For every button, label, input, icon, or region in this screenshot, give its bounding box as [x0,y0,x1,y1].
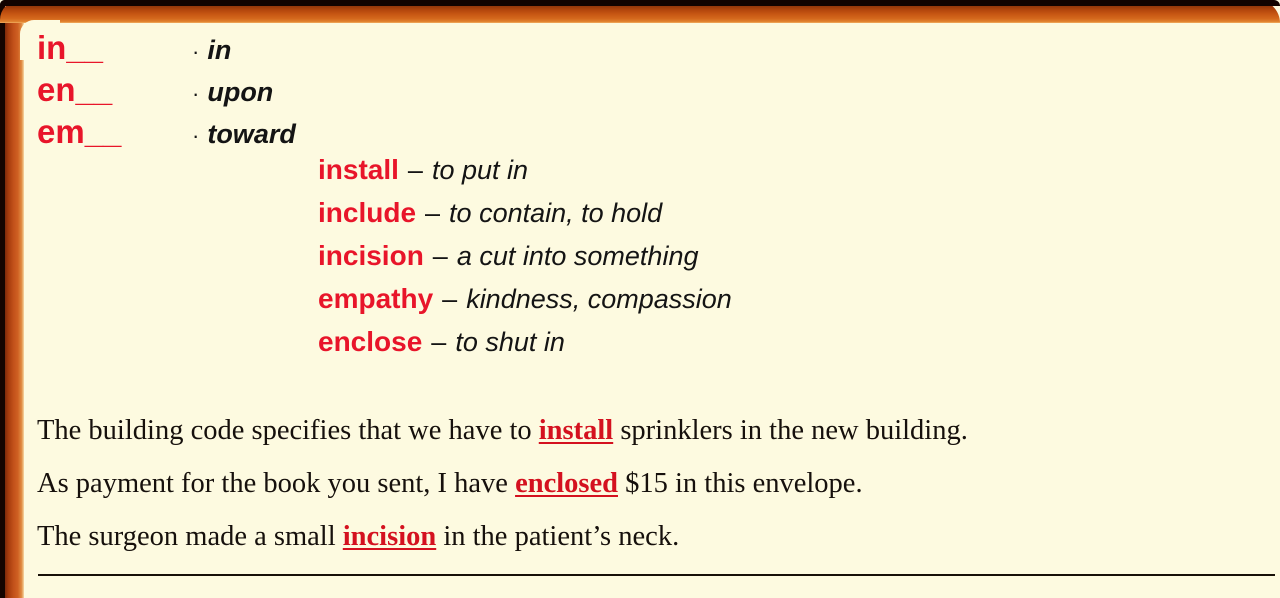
bullet-icon: · [192,83,199,105]
example-sentence: The building code specifies that we have… [37,404,1260,457]
definition-meaning: to contain, to hold [449,198,662,229]
prefix-row: in__ · in [37,29,296,71]
definition-list: install – to put in include – to contain… [318,154,732,369]
prefix-label: em__ [37,113,192,151]
slide: in__ · in en__ · upon em__ · toward [0,0,1280,598]
slide-content: in__ · in en__ · upon em__ · toward [24,23,1280,598]
example-sentences: The building code specifies that we have… [37,404,1260,563]
definition-word: install [318,154,399,186]
definition-word: empathy [318,283,433,315]
prefix-label: en__ [37,71,192,109]
sentence-keyword: install [539,415,613,446]
frame-top-edge [0,0,1280,6]
prefix-table: in__ · in en__ · upon em__ · toward [37,29,296,155]
prefix-label: in__ [37,29,192,67]
definition-item: include – to contain, to hold [318,197,732,240]
definition-dash: – [408,155,423,186]
sentence-text-after: in the patient’s neck. [436,521,679,552]
prefix-meaning-label: toward [207,119,296,150]
definition-dash: – [433,241,448,272]
sentence-text-before: The surgeon made a small [37,521,343,552]
bullet-icon: · [192,125,199,147]
prefix-meaning: · in [192,35,231,66]
definition-item: install – to put in [318,154,732,197]
definition-meaning: a cut into something [457,241,699,272]
definition-word: enclose [318,326,422,358]
definition-meaning: kindness, compassion [466,284,732,315]
prefix-meaning-label: in [207,35,231,66]
definition-dash: – [431,327,446,358]
definition-meaning: to put in [432,155,528,186]
definition-item: empathy – kindness, compassion [318,283,732,326]
sentence-keyword: enclosed [515,468,618,499]
horizontal-rule [38,574,1275,576]
definition-meaning: to shut in [455,327,565,358]
definition-dash: – [442,284,457,315]
example-sentence: The surgeon made a small incision in the… [37,510,1260,563]
frame-left-edge [0,0,5,598]
prefix-meaning-label: upon [207,77,273,108]
prefix-meaning: · upon [192,77,273,108]
sentence-text-before: The building code specifies that we have… [37,415,539,446]
prefix-meaning: · toward [192,119,296,150]
example-sentence: As payment for the book you sent, I have… [37,457,1260,510]
definition-word: include [318,197,416,229]
definition-item: incision – a cut into something [318,240,732,283]
sentence-text-before: As payment for the book you sent, I have [37,468,515,499]
prefix-row: en__ · upon [37,71,296,113]
definition-dash: – [425,198,440,229]
definition-word: incision [318,240,424,272]
prefix-row: em__ · toward [37,113,296,155]
sentence-keyword: incision [343,521,436,552]
definition-item: enclose – to shut in [318,326,732,369]
bullet-icon: · [192,41,199,63]
sentence-text-after: $15 in this envelope. [618,468,863,499]
sentence-text-after: sprinklers in the new building. [613,415,968,446]
